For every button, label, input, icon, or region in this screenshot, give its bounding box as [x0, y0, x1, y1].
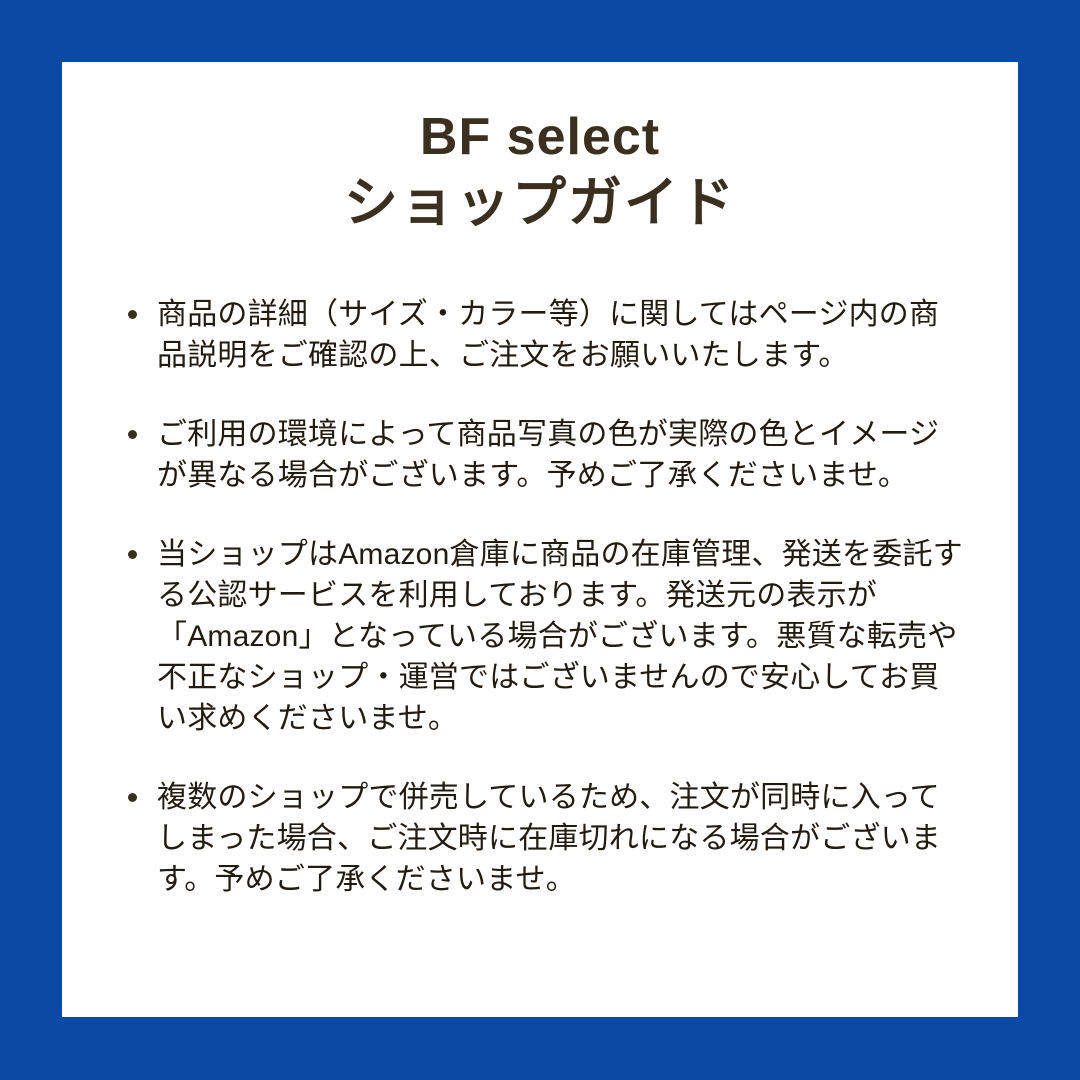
title-subtitle: ショップガイド	[62, 173, 1018, 234]
bullet-dot-icon	[128, 310, 137, 319]
note-text: 当ショップはAmazon倉庫に商品の在庫管理、発送を委託する公認サービスを利用し…	[157, 534, 966, 739]
bullet-dot-icon	[128, 793, 137, 802]
guide-notes-list: 商品の詳細（サイズ・カラー等）に関してはページ内の商品説明をご確認の上、ご注文を…	[62, 294, 1018, 900]
bullet-dot-icon	[128, 430, 137, 439]
list-item: 商品の詳細（サイズ・カラー等）に関してはページ内の商品説明をご確認の上、ご注文を…	[128, 294, 966, 376]
poster-frame: BF select ショップガイド 商品の詳細（サイズ・カラー等）に関してはペー…	[0, 0, 1080, 1080]
page-title: BF select ショップガイド	[62, 62, 1018, 234]
note-text: ご利用の環境によって商品写真の色が実際の色とイメージが異なる場合がございます。予…	[157, 414, 966, 496]
title-brand: BF select	[62, 108, 1018, 167]
list-item: 当ショップはAmazon倉庫に商品の在庫管理、発送を委託する公認サービスを利用し…	[128, 534, 966, 739]
list-item: ご利用の環境によって商品写真の色が実際の色とイメージが異なる場合がございます。予…	[128, 414, 966, 496]
note-text: 複数のショップで併売しているため、注文が同時に入ってしまった場合、ご注文時に在庫…	[157, 777, 966, 900]
bullet-dot-icon	[128, 550, 137, 559]
guide-card: BF select ショップガイド 商品の詳細（サイズ・カラー等）に関してはペー…	[62, 62, 1018, 1017]
note-text: 商品の詳細（サイズ・カラー等）に関してはページ内の商品説明をご確認の上、ご注文を…	[157, 294, 966, 376]
list-item: 複数のショップで併売しているため、注文が同時に入ってしまった場合、ご注文時に在庫…	[128, 777, 966, 900]
